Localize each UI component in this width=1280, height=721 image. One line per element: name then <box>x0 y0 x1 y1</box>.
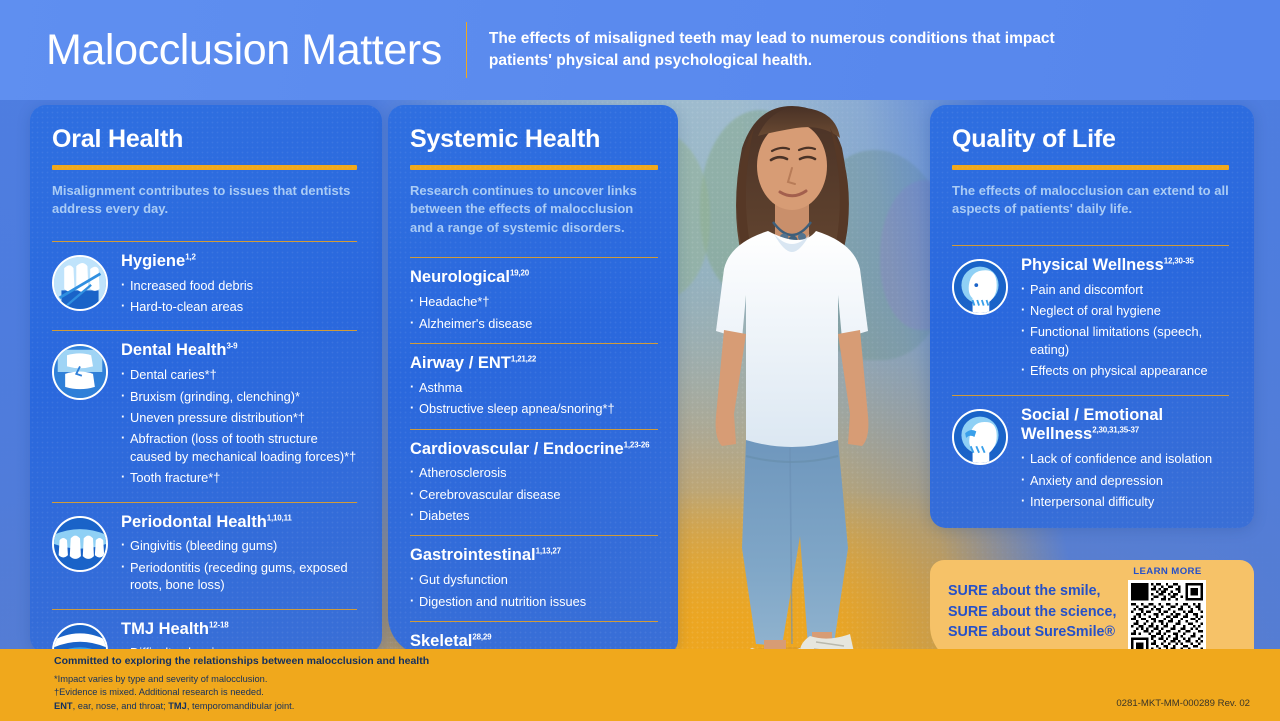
infographic-root: Malocclusion Matters The effects of misa… <box>0 0 1280 721</box>
list-item: Gut dysfunction <box>410 571 656 588</box>
sure-line-2: SURE about the science, <box>948 602 1116 623</box>
section-title: Airway / ENT1,21,22 <box>410 354 656 374</box>
list-item: Tooth fracture*† <box>121 469 360 486</box>
footnotes: Committed to exploring the relationships… <box>54 655 429 713</box>
sure-line-3: SURE about SureSmile® <box>948 622 1116 643</box>
abbr-ent: ENT <box>54 701 73 711</box>
section-title: Dental Health3-9 <box>121 341 360 361</box>
panel-quality-accent-rule <box>952 165 1229 170</box>
section-title: Periodontal Health1,10,11 <box>121 513 360 533</box>
section-title: TMJ Health12-18 <box>121 620 360 640</box>
walking-woman-illustration <box>672 88 912 688</box>
section-bullets: Pain and discomfort Neglect of oral hygi… <box>1021 281 1232 380</box>
list-item: Effects on physical appearance <box>1021 362 1232 379</box>
panel-oral-subheading: Misalignment contributes to issues that … <box>52 182 360 219</box>
section-title: Hygiene1,2 <box>121 252 360 272</box>
list-item: Bruxism (grinding, clenching)* <box>121 388 360 405</box>
list-item: Asthma <box>410 379 656 396</box>
list-item: Alzheimer's disease <box>410 315 656 332</box>
list-item: Abfraction (loss of tooth structure caus… <box>121 430 360 465</box>
section-gastrointestinal: Gastrointestinal1,13,27 Gut dysfunction … <box>410 535 656 610</box>
head-profile-icon <box>952 259 1008 315</box>
section-periodontal-health: Periodontal Health1,10,11 Gingivitis (bl… <box>52 502 360 598</box>
list-item: Diabetes <box>410 507 656 524</box>
section-bullets: Gut dysfunction Digestion and nutrition … <box>410 571 656 610</box>
panel-systemic-health: Systemic Health Research continues to un… <box>388 105 678 656</box>
panel-systemic-accent-rule <box>410 165 658 170</box>
section-bullets: Increased food debris Hard-to-clean area… <box>121 277 360 316</box>
list-item: Cerebrovascular disease <box>410 486 656 503</box>
section-bullets: Lack of confidence and isolation Anxiety… <box>1021 450 1232 510</box>
qr-code[interactable] <box>1128 580 1206 658</box>
section-title: Neurological19,20 <box>410 268 656 288</box>
footer-headline: Committed to exploring the relationships… <box>54 655 429 667</box>
list-item: Anxiety and depression <box>1021 472 1232 489</box>
list-item: Hard-to-clean areas <box>121 298 360 315</box>
panel-oral-heading: Oral Health <box>52 125 360 154</box>
header-subtitle: The effects of misaligned teeth may lead… <box>489 28 1109 72</box>
section-cardiovascular-endocrine: Cardiovascular / Endocrine1,23-26 Athero… <box>410 429 656 525</box>
list-item: Periodontitis (receding gums, exposed ro… <box>121 559 360 594</box>
section-bullets: Headache*† Alzheimer's disease <box>410 293 656 332</box>
panel-systemic-subheading: Research continues to uncover links betw… <box>410 182 656 237</box>
panel-quality-heading: Quality of Life <box>952 125 1232 154</box>
panel-systemic-heading: Systemic Health <box>410 125 656 154</box>
cracked-tooth-icon <box>52 344 108 400</box>
abbr-tmj: TMJ <box>168 701 187 711</box>
footnote-abbreviations: ENT, ear, nose, and throat; TMJ, temporo… <box>54 700 429 713</box>
section-bullets: Dental caries*† Bruxism (grinding, clenc… <box>121 366 360 486</box>
section-title: Physical Wellness12,30-35 <box>1021 256 1232 276</box>
header: Malocclusion Matters The effects of misa… <box>0 0 1280 100</box>
section-title: Gastrointestinal1,13,27 <box>410 546 656 566</box>
footnote-dagger: †Evidence is mixed. Additional research … <box>54 686 429 699</box>
list-item: Increased food debris <box>121 277 360 294</box>
section-title: Cardiovascular / Endocrine1,23-26 <box>410 440 656 460</box>
footnote-asterisk: *Impact varies by type and severity of m… <box>54 673 429 686</box>
section-social-emotional-wellness: Social / Emotional Wellness2,30,31,35-37… <box>952 395 1232 515</box>
section-physical-wellness: Physical Wellness12,30-35 Pain and disco… <box>952 245 1232 384</box>
panel-quality-subheading: The effects of malocclusion can extend t… <box>952 182 1232 219</box>
panel-oral-accent-rule <box>52 165 357 170</box>
list-item: Headache*† <box>410 293 656 310</box>
list-item: Digestion and nutrition issues <box>410 593 656 610</box>
section-bullets: Asthma Obstructive sleep apnea/snoring*† <box>410 379 656 418</box>
abbr-ent-def: , ear, nose, and throat; <box>73 701 169 711</box>
section-hygiene: Hygiene1,2 Increased food debris Hard-to… <box>52 241 360 320</box>
list-item: Atherosclerosis <box>410 464 656 481</box>
page-title: Malocclusion Matters <box>46 26 442 75</box>
list-item: Obstructive sleep apnea/snoring*† <box>410 400 656 417</box>
head-hand-icon <box>952 409 1008 465</box>
header-divider <box>466 22 467 78</box>
section-title: Social / Emotional Wellness2,30,31,35-37 <box>1021 406 1232 446</box>
list-item: Dental caries*† <box>121 366 360 383</box>
sure-line-1: SURE about the smile, <box>948 581 1116 602</box>
section-neurological: Neurological19,20 Headache*† Alzheimer's… <box>410 257 656 332</box>
section-dental-health: Dental Health3-9 Dental caries*† Bruxism… <box>52 330 360 490</box>
gums-icon <box>52 516 108 572</box>
panel-quality-of-life: Quality of Life The effects of malocclus… <box>930 105 1254 528</box>
sure-tagline: SURE about the smile, SURE about the sci… <box>948 581 1116 643</box>
learn-more-label: LEARN MORE <box>1133 566 1202 577</box>
section-bullets: Atherosclerosis Cerebrovascular disease … <box>410 464 656 524</box>
document-id: 0281-MKT-MM-000289 Rev. 02 <box>1116 698 1250 709</box>
list-item: Uneven pressure distribution*† <box>121 409 360 426</box>
abbr-tmj-def: , temporomandibular joint. <box>187 701 295 711</box>
panel-oral-health: Oral Health Misalignment contributes to … <box>30 105 382 653</box>
list-item: Neglect of oral hygiene <box>1021 302 1232 319</box>
list-item: Lack of confidence and isolation <box>1021 450 1232 467</box>
list-item: Pain and discomfort <box>1021 281 1232 298</box>
list-item: Functional limitations (speech, eating) <box>1021 323 1232 358</box>
list-item: Interpersonal difficulty <box>1021 493 1232 510</box>
list-item: Gingivitis (bleeding gums) <box>121 537 360 554</box>
section-bullets: Gingivitis (bleeding gums) Periodontitis… <box>121 537 360 593</box>
section-airway-ent: Airway / ENT1,21,22 Asthma Obstructive s… <box>410 343 656 418</box>
teeth-floss-icon <box>52 255 108 311</box>
